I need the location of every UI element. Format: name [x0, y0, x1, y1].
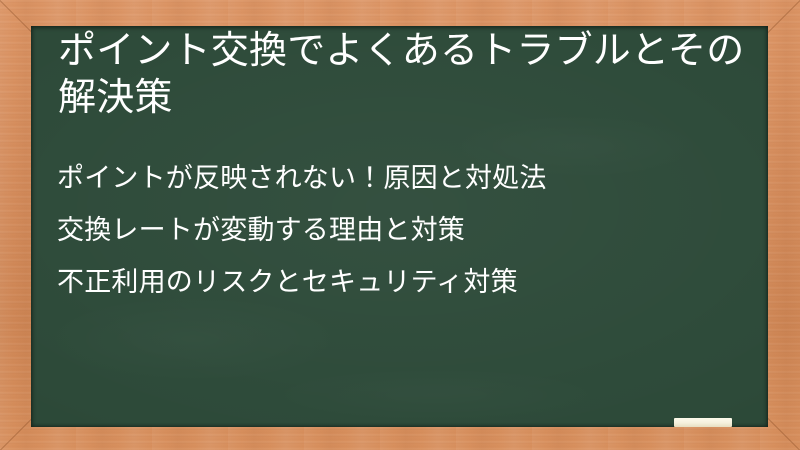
chalkboard-surface: ポイント交換でよくあるトラブルとその解決策 ポイントが反映されない！原因と対処法… — [31, 26, 768, 427]
slide-title: ポイント交換でよくあるトラブルとその解決策 — [58, 28, 758, 122]
chalk-stick-icon — [674, 418, 732, 427]
list-item: ポイントが反映されない！原因と対処法 — [31, 152, 751, 204]
topic-list: ポイントが反映されない！原因と対処法 交換レートが変動する理由と対策 不正利用の… — [31, 152, 751, 308]
list-item: 不正利用のリスクとセキュリティ対策 — [31, 256, 751, 308]
list-item: 交換レートが変動する理由と対策 — [31, 204, 751, 256]
chalkboard-slide: ポイント交換でよくあるトラブルとその解決策 ポイントが反映されない！原因と対処法… — [0, 0, 800, 450]
